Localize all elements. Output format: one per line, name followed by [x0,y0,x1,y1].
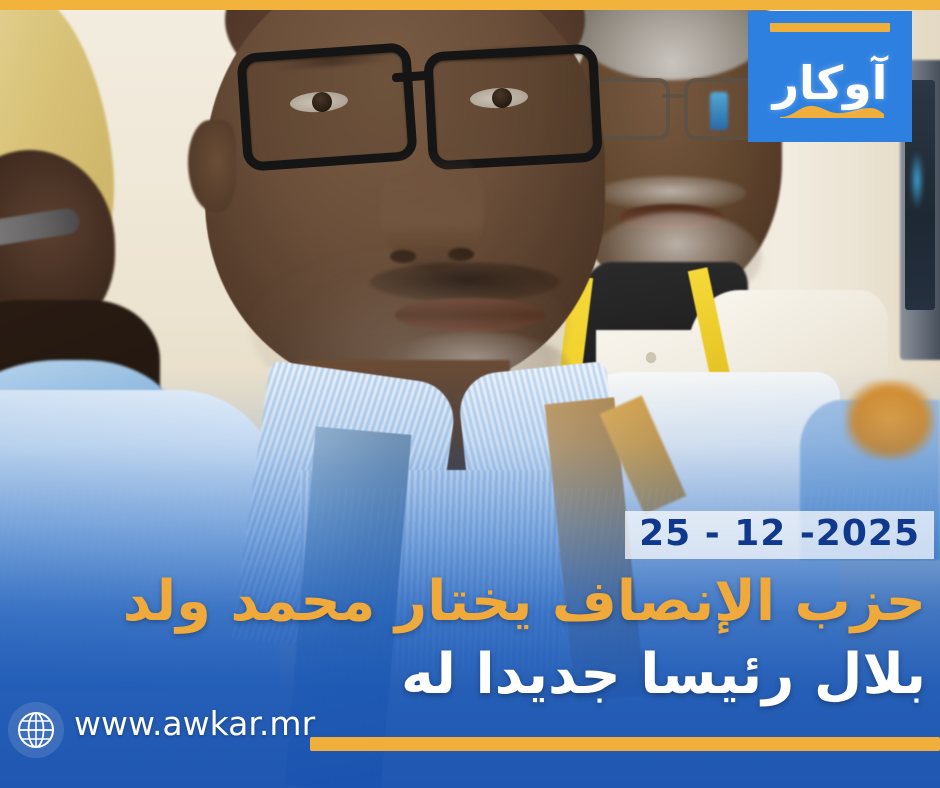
headline-line-1: حزب الإنصاف يختار محمد ولد [10,566,926,639]
site-url[interactable]: www.awkar.mr [74,707,315,740]
photo-subject-glasses [240,48,582,156]
news-card: آوكار 25 - 12 -2025 حزب الإنصاف يختار مح… [0,0,940,788]
globe-icon [8,702,64,758]
logo-accent-rule [770,23,890,32]
photo-screen-glow [910,150,924,210]
headline-line-2: بلال رئيسا جديدا له [10,639,926,712]
site-logo[interactable]: آوكار [748,11,912,142]
date-text: 25 - 12 -2025 [639,516,920,552]
top-accent-rule [0,0,940,10]
date-badge: 25 - 12 -2025 [625,511,934,559]
headline: حزب الإنصاف يختار محمد ولد بلال رئيسا جد… [10,566,926,712]
logo-wordmark: آوكار [773,60,888,106]
footer-accent-rule [310,737,940,751]
photo-flag-star [845,380,935,460]
photo-second-person-glasses [580,78,770,136]
photo-subject-ear [188,120,236,212]
photo-glasses-glint [710,92,728,130]
